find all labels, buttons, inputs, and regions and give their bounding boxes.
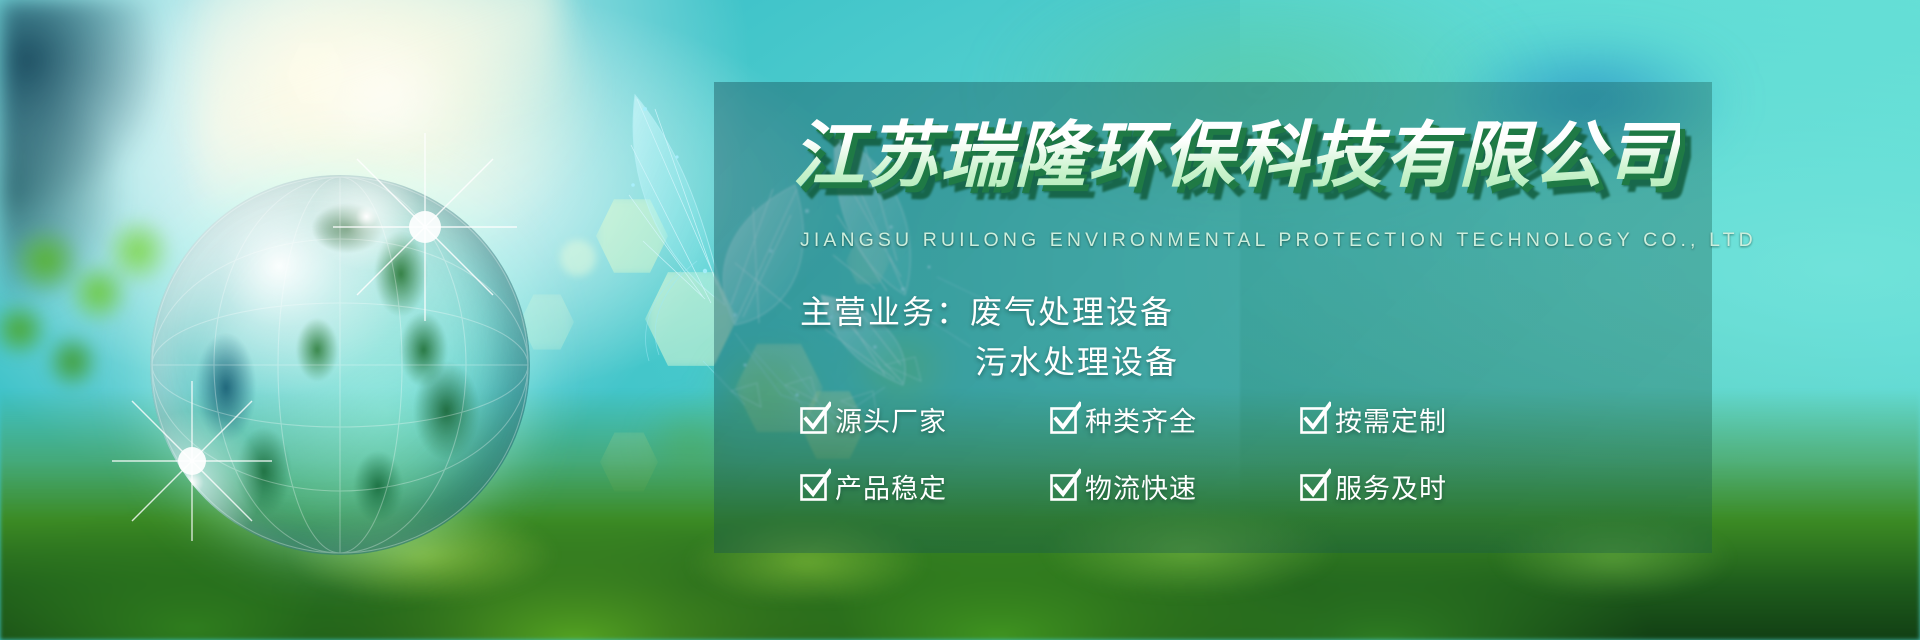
feature-label: 产品稳定 [835,467,947,506]
checkbox-checked-icon [1300,474,1326,500]
company-name-en: JIANGSU RUILONG ENVIRONMENTAL PROTECTION… [800,229,1757,252]
feature-label: 种类齐全 [1085,400,1197,439]
checkbox-checked-icon [800,474,826,500]
feature-label: 服务及时 [1335,467,1447,506]
checkbox-checked-icon [1050,407,1076,433]
starburst-icon [325,127,525,327]
main-business-line2: 污水处理设备 [975,338,1179,388]
checkbox-checked-icon [800,407,826,433]
feature-label: 按需定制 [1335,400,1447,439]
feature-label: 源头厂家 [835,400,947,439]
feature-item: 种类齐全 [1050,400,1300,439]
feature-label: 物流快速 [1085,467,1197,506]
feature-item: 产品稳定 [800,467,1050,506]
checkbox-checked-icon [1300,407,1326,433]
company-name-cn: 江苏瑞隆环保科技有限公司 [792,96,1680,201]
banner-root: 江苏瑞隆环保科技有限公司 JIANGSU RUILONG ENVIRONMENT… [0,0,1920,640]
main-business-line1: 主营业务：废气处理设备 [800,294,1174,330]
main-business: 主营业务：废气处理设备 污水处理设备 [800,288,1179,388]
feature-item: 源头厂家 [800,400,1050,439]
starburst-icon [102,371,282,551]
glass-globe [150,175,530,555]
feature-item: 物流快速 [1050,467,1300,506]
checkbox-checked-icon [1050,474,1076,500]
feature-item: 服务及时 [1300,467,1500,506]
feature-item: 按需定制 [1300,400,1500,439]
feature-list: 源头厂家 种类齐全 按需定制 产品稳定 物流快速 [800,400,1500,506]
